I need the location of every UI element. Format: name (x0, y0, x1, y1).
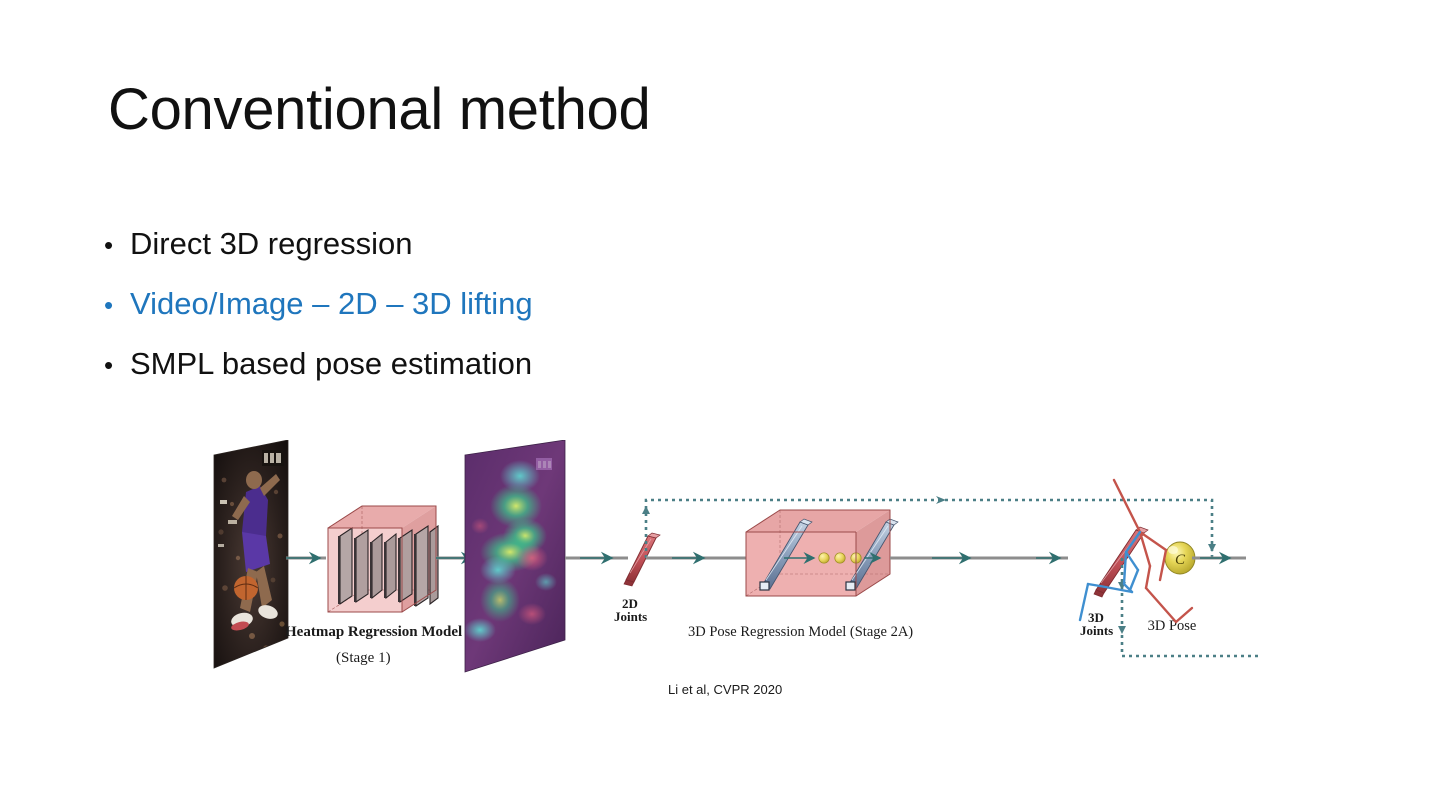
stage2a-label: 3D Pose Regression Model (Stage 2A) (688, 624, 913, 640)
bullet-marker-icon: • (104, 335, 130, 395)
joints-2d-label-line2: Joints (614, 609, 647, 624)
list-item: • Direct 3D regression (104, 214, 1204, 274)
page-title: Conventional method (108, 78, 1338, 142)
heatmap-image-plane (464, 440, 565, 672)
pose-3d-label: 3D Pose (1148, 618, 1197, 634)
joints-3d-label-line2: Joints (1080, 623, 1113, 638)
bullet-list: • Direct 3D regression • Video/Image – 2… (104, 214, 1204, 394)
pipeline-figure: 2D Joints (180, 440, 1260, 720)
feedback-loop-lower (1118, 558, 1260, 656)
sphere-label: C (1175, 552, 1186, 568)
pose-regression-box (746, 510, 898, 596)
latent-dot (819, 553, 829, 563)
list-item: • Video/Image – 2D – 3D lifting (104, 274, 1204, 334)
heatmap-regression-box (328, 506, 438, 612)
stage1-label-line1: Heatmap Regression Model (285, 624, 462, 640)
bullet-marker-icon: • (104, 275, 130, 335)
list-item: • SMPL based pose estimation (104, 334, 1204, 394)
bullet-text: Direct 3D regression (130, 214, 413, 274)
stage1-label-line2: (Stage 1) (336, 650, 391, 666)
slide-canvas: Conventional method • Direct 3D regressi… (0, 0, 1440, 810)
bullet-marker-icon: • (104, 215, 130, 275)
combine-sphere: C (1165, 542, 1195, 574)
input-image-plane (214, 440, 288, 668)
latent-dot (835, 553, 845, 563)
bullet-text: Video/Image – 2D – 3D lifting (130, 274, 533, 334)
bullet-text: SMPL based pose estimation (130, 334, 532, 394)
figure-caption: Li et al, CVPR 2020 (668, 682, 782, 697)
